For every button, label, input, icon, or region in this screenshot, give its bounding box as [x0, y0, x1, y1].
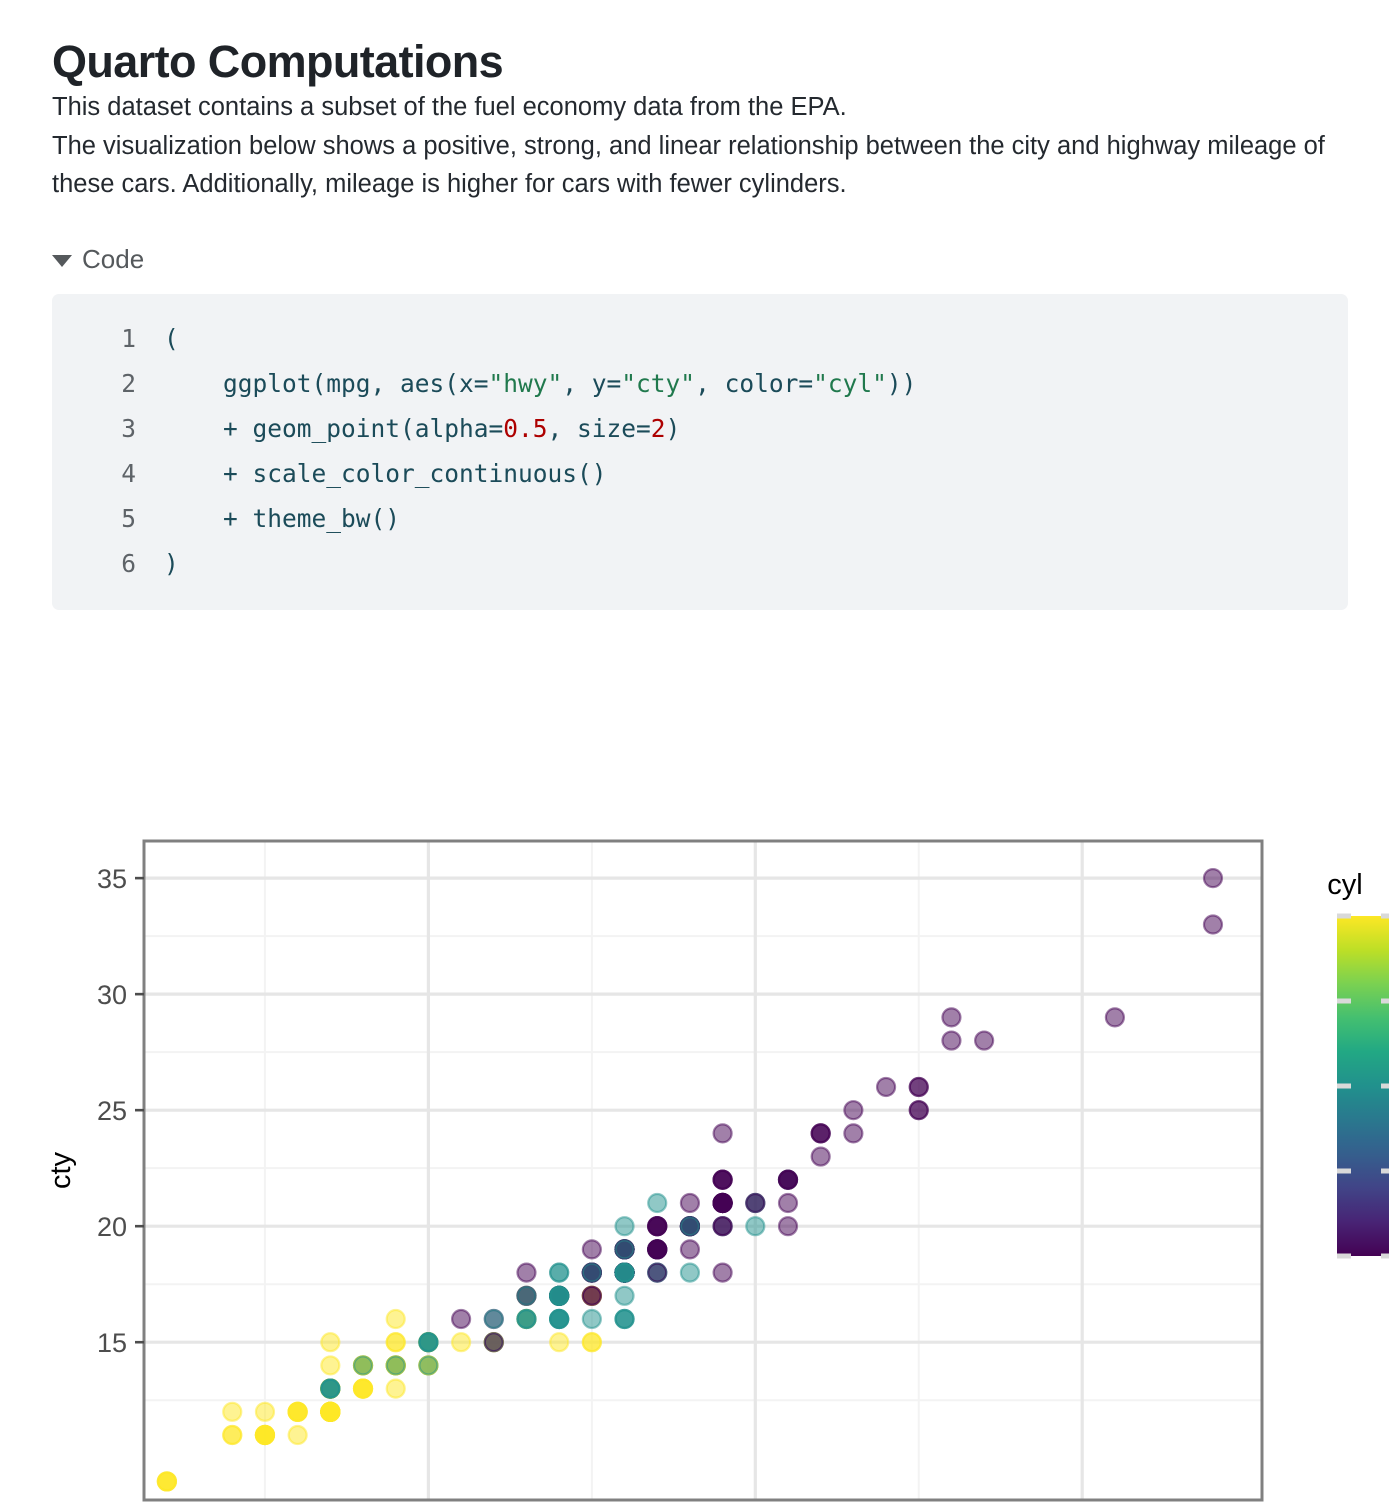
code-line-number: 5	[52, 496, 164, 541]
scatter-point	[746, 1217, 764, 1235]
chevron-down-icon	[52, 255, 72, 267]
code-line-number: 2	[52, 361, 164, 406]
scatter-point	[452, 1333, 470, 1351]
scatter-point	[942, 1008, 960, 1026]
description-paragraph: The visualization below shows a positive…	[40, 127, 1342, 205]
scatter-point	[648, 1240, 666, 1258]
scatter-point	[1106, 1008, 1124, 1026]
scatter-point	[779, 1217, 797, 1235]
scatter-point	[681, 1264, 699, 1282]
scatter-point	[354, 1380, 372, 1398]
scatter-point	[485, 1333, 503, 1351]
scatter-point	[223, 1426, 241, 1444]
code-line-text: + scale_color_continuous()	[164, 451, 607, 496]
scatter-point	[550, 1333, 568, 1351]
code-line: 5 + theme_bw()	[52, 496, 1348, 541]
plot-svg: 1520253035ctycyl	[40, 828, 1400, 1508]
intro-paragraph: This dataset contains a subset of the fu…	[40, 88, 1342, 127]
scatter-point	[387, 1333, 405, 1351]
scatter-plot-figure: 1520253035ctycyl	[40, 828, 1400, 1508]
scatter-point	[877, 1078, 895, 1096]
code-line-number: 4	[52, 451, 164, 496]
y-axis-tick-label: 30	[97, 980, 127, 1010]
scatter-point	[485, 1310, 503, 1328]
scatter-point	[289, 1403, 307, 1421]
scatter-point	[583, 1240, 601, 1258]
scatter-point	[648, 1194, 666, 1212]
y-axis: 1520253035	[97, 864, 144, 1358]
scatter-point	[583, 1310, 601, 1328]
scatter-point	[910, 1101, 928, 1119]
scatter-point	[583, 1287, 601, 1305]
y-axis-tick-label: 20	[97, 1212, 127, 1242]
scatter-point	[681, 1194, 699, 1212]
scatter-point	[844, 1124, 862, 1142]
y-axis-tick-label: 35	[97, 864, 127, 894]
scatter-point	[517, 1264, 535, 1282]
code-lines: 1(2 ggplot(mpg, aes(x="hwy", y="cty", co…	[52, 316, 1348, 586]
code-line-text: ggplot(mpg, aes(x="hwy", y="cty", color=…	[164, 361, 916, 406]
y-axis-tick-label: 15	[97, 1328, 127, 1358]
scatter-point	[616, 1264, 634, 1282]
code-block[interactable]: 1(2 ggplot(mpg, aes(x="hwy", y="cty", co…	[52, 294, 1348, 610]
code-line-text: + geom_point(alpha=0.5, size=2)	[164, 406, 680, 451]
scatter-point	[779, 1194, 797, 1212]
code-line-number: 1	[52, 316, 164, 361]
scatter-point	[583, 1264, 601, 1282]
code-fold-label: Code	[82, 246, 144, 272]
scatter-point	[714, 1171, 732, 1189]
scatter-point	[321, 1380, 339, 1398]
code-line: 1(	[52, 316, 1348, 361]
scatter-point	[387, 1356, 405, 1374]
scatter-point	[714, 1217, 732, 1235]
scatter-point	[714, 1264, 732, 1282]
y-axis-title: cty	[45, 1151, 77, 1189]
code-line-text: )	[164, 541, 179, 586]
scatter-point	[616, 1310, 634, 1328]
code-line: 2 ggplot(mpg, aes(x="hwy", y="cty", colo…	[52, 361, 1348, 406]
scatter-point	[550, 1310, 568, 1328]
scatter-point	[812, 1124, 830, 1142]
scatter-point	[681, 1240, 699, 1258]
scatter-point	[321, 1333, 339, 1351]
scatter-point	[419, 1356, 437, 1374]
scatter-point	[321, 1403, 339, 1421]
scatter-point	[942, 1032, 960, 1050]
scatter-point	[419, 1333, 437, 1351]
scatter-point	[812, 1148, 830, 1166]
scatter-point	[387, 1380, 405, 1398]
code-line-number: 6	[52, 541, 164, 586]
code-line: 4 + scale_color_continuous()	[52, 451, 1348, 496]
scatter-point	[517, 1287, 535, 1305]
scatter-point	[975, 1032, 993, 1050]
scatter-point	[714, 1194, 732, 1212]
scatter-point	[354, 1356, 372, 1374]
scatter-point	[387, 1310, 405, 1328]
code-line: 6)	[52, 541, 1348, 586]
code-line-text: (	[164, 316, 179, 361]
scatter-point	[1204, 869, 1222, 887]
scatter-point	[223, 1403, 241, 1421]
scatter-point	[616, 1240, 634, 1258]
scatter-point	[321, 1356, 339, 1374]
scatter-point	[714, 1124, 732, 1142]
scatter-point	[1204, 916, 1222, 934]
scatter-point	[616, 1287, 634, 1305]
scatter-point	[844, 1101, 862, 1119]
scatter-point	[550, 1287, 568, 1305]
scatter-point	[681, 1217, 699, 1235]
scatter-point	[289, 1426, 307, 1444]
code-line-text: + theme_bw()	[164, 496, 400, 541]
code-line: 3 + geom_point(alpha=0.5, size=2)	[52, 406, 1348, 451]
scatter-point	[648, 1217, 666, 1235]
scatter-point	[550, 1264, 568, 1282]
scatter-point	[158, 1472, 176, 1490]
quarto-document: Quarto Computations This dataset contain…	[0, 0, 1400, 1500]
code-line-number: 3	[52, 406, 164, 451]
scatter-point	[746, 1194, 764, 1212]
scatter-point	[779, 1171, 797, 1189]
y-axis-tick-label: 25	[97, 1096, 127, 1126]
scatter-point	[452, 1310, 470, 1328]
scatter-point	[616, 1217, 634, 1235]
scatter-point	[517, 1310, 535, 1328]
legend-title: cyl	[1327, 869, 1362, 901]
scatter-point	[648, 1264, 666, 1282]
page-title: Quarto Computations	[40, 0, 1360, 88]
scatter-point	[256, 1403, 274, 1421]
scatter-point	[256, 1426, 274, 1444]
code-fold-toggle[interactable]: Code	[40, 246, 144, 272]
scatter-point	[583, 1333, 601, 1351]
scatter-point	[910, 1078, 928, 1096]
